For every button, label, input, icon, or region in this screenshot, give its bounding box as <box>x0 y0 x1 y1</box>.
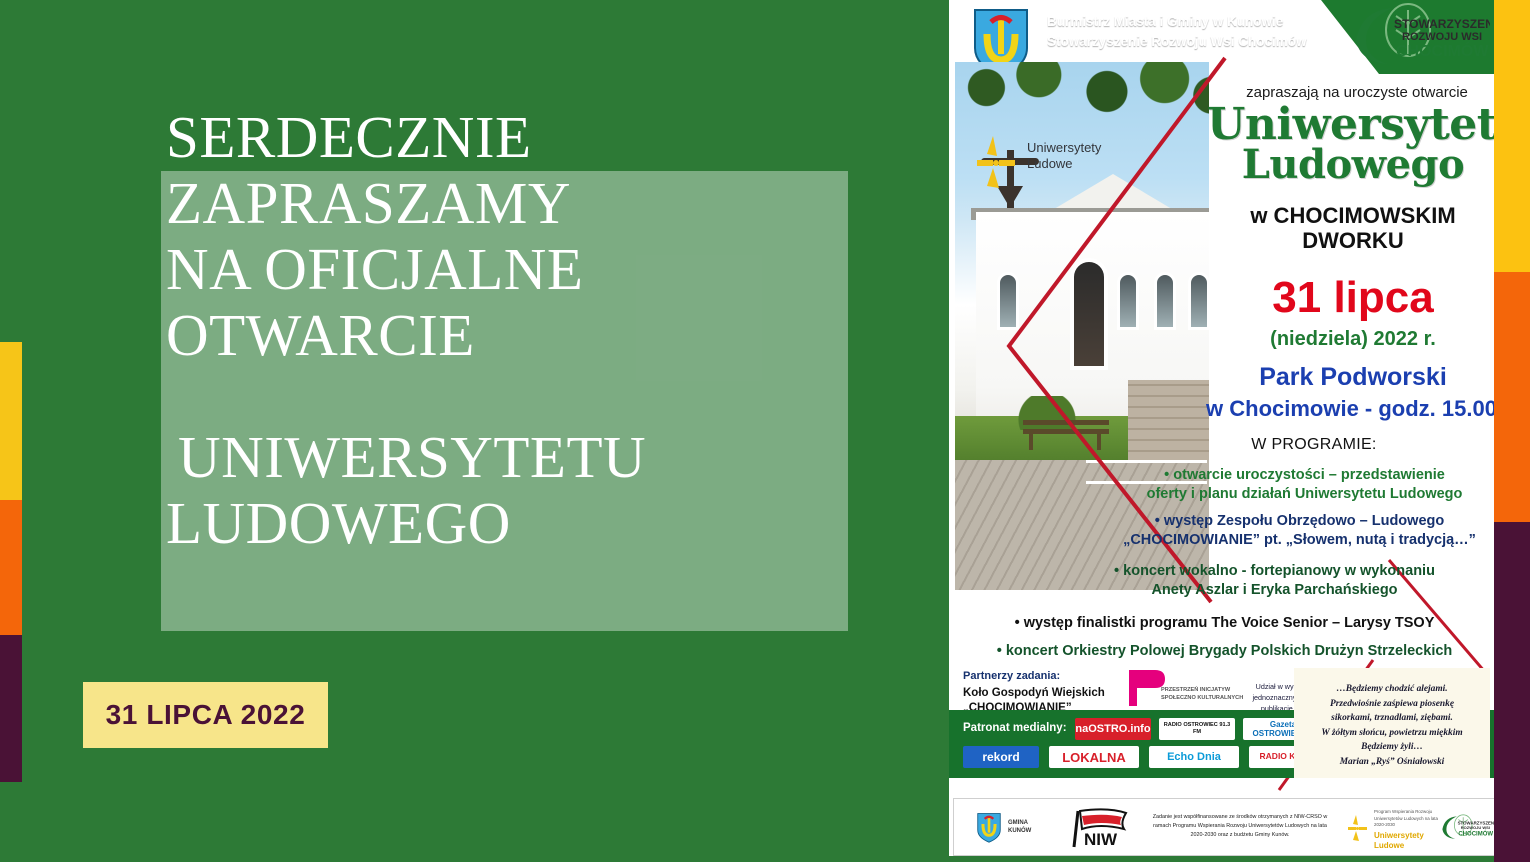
programme-item: • występ finalistki programu The Voice S… <box>949 614 1494 633</box>
poster-place-line-1: Park Podworski <box>1207 363 1494 392</box>
ul-logo-line-2: Ludowe <box>1027 156 1101 172</box>
gmina-line-2: KUNÓW <box>1008 827 1031 835</box>
poem-author: Marian „Ryś” Ośniałowski <box>1294 755 1490 770</box>
headline-line-2: ZAPRASZAMY <box>166 170 926 236</box>
photo-stone-wall <box>1128 380 1217 472</box>
poem-quote: …Będziemy chodzić alejami. Przedwiośnie … <box>1294 668 1490 778</box>
left-accent-bars <box>0 342 22 782</box>
niw-label: NIW <box>1084 830 1118 849</box>
headline-line-5: UNIWERSYTETU <box>166 424 926 490</box>
headline-text: SERDECZNIE ZAPRASZAMY NA OFICJALNE OTWAR… <box>166 104 926 556</box>
svg-text:STOWARZYSZENIE: STOWARZYSZENIE <box>1458 820 1494 825</box>
gmina-line-1: GMINA <box>1008 819 1031 827</box>
stowarzyszenie-chocimow-logo-icon: STOWARZYSZENIE ROZWOJU WSI CHOCIMÓW <box>1350 2 1490 72</box>
poster-title-line-2: Ludowego <box>1207 146 1494 184</box>
partners-label: Partnerzy zadania: <box>963 670 1060 682</box>
uniwersytety-ludowe-logo: Uniwersytety Ludowe <box>969 130 1134 194</box>
poem-line-1: …Będziemy chodzić alejami. <box>1294 682 1490 697</box>
poster-subtitle: w CHOCIMOWSKIM DWORKU <box>1207 204 1494 253</box>
accent-bar-orange <box>0 500 22 635</box>
niw-logo-icon: NIW <box>1066 807 1140 849</box>
media-logo-echo-dnia: Echo Dnia <box>1149 746 1239 768</box>
accent-bar-yellow <box>0 342 22 500</box>
photo-window <box>997 272 1019 330</box>
media-logo-radio-ostrowiec: RADIO OSTROWIEC 91.3 FM <box>1159 718 1235 740</box>
funding-strip: GMINA KUNÓW NIW Zadanie jest współfinans… <box>953 798 1494 856</box>
poster-title: Uniwersytetu Ludowego <box>1207 104 1494 185</box>
photo-park-bench <box>1023 420 1109 450</box>
svg-text:ROZWOJU WSI: ROZWOJU WSI <box>1461 825 1490 830</box>
svg-text:ROZWOJU WSI: ROZWOJU WSI <box>1402 31 1482 43</box>
ul-logo-line-1: Uniwersytety <box>1027 140 1101 156</box>
headline-line-3: NA OFICJALNE <box>166 236 926 302</box>
accent-strip-orange <box>1494 272 1530 522</box>
poem-line-5: Będziemy żyli… <box>1294 740 1490 755</box>
svg-text:CHOCIMÓW: CHOCIMÓW <box>1396 41 1489 60</box>
accent-strip-purple <box>1494 522 1530 862</box>
ul-starburst-icon <box>973 134 1021 190</box>
headline-line-4: OTWARCIE <box>166 302 926 368</box>
media-logo-naostro: naOSTRO.info <box>1075 718 1151 740</box>
header-line-1: Burmistrz Miasta i Gminy w Kunowie <box>1047 12 1307 32</box>
funding-ul-starburst-icon <box>1346 809 1370 847</box>
headline-spacer <box>166 368 926 424</box>
svg-text:STOWARZYSZENIE: STOWARZYSZENIE <box>1394 17 1490 31</box>
slide-canvas: SERDECZNIE ZAPRASZAMY NA OFICJALNE OTWAR… <box>0 0 1530 862</box>
photo-window <box>1154 272 1176 330</box>
partners-org-line-1: Koło Gospodyń Wiejskich <box>963 686 1105 701</box>
programme-item: • koncert Orkiestry Polowej Brygady Pols… <box>949 642 1494 661</box>
programme-item: • występ Zespołu Obrzędowo – Ludowego„CH… <box>949 512 1494 550</box>
poster-subtitle-line-1: w CHOCIMOWSKIM <box>1207 204 1494 229</box>
funding-ul-label: Uniwersytety Ludowe <box>1374 831 1424 850</box>
poster-subtitle-line-2: DWORKU <box>1207 229 1494 254</box>
date-badge-label: 31 LIPCA 2022 <box>106 699 306 731</box>
accent-bar-purple <box>0 635 22 782</box>
ul-logo-text: Uniwersytety Ludowe <box>1027 140 1101 173</box>
headline-line-6: LUDOWEGO <box>166 490 926 556</box>
poem-line-3: sikorkami, trznadlami, ziębami. <box>1294 711 1490 726</box>
svg-text:CHOCIMÓW: CHOCIMÓW <box>1458 830 1493 838</box>
media-patronage-label: Patronat medialny: <box>963 722 1067 734</box>
headline-line-1: SERDECZNIE <box>166 104 926 170</box>
media-logo-lokalna: LOKALNA <box>1049 746 1139 768</box>
programme-item: • otwarcie uroczystości – przedstawienie… <box>949 466 1494 504</box>
accent-strip-yellow <box>1494 0 1530 272</box>
funding-stowarzyszenie-logo-icon: STOWARZYSZENIE ROZWOJU WSI CHOCIMÓW <box>1440 809 1494 847</box>
poster-place-line-2: w Chocimowie - godz. 15.00 <box>1199 396 1494 422</box>
programme-header: W PROGRAMIE: <box>1164 436 1464 454</box>
funding-ul-programme: Program Wspierania Rozwoju Uniwersytetów… <box>1374 809 1444 829</box>
poster-panel: Burmistrz Miasta i Gminy w Kunowie Stowa… <box>943 0 1530 862</box>
gmina-kunow-crest-icon <box>976 807 1002 847</box>
event-poster: Burmistrz Miasta i Gminy w Kunowie Stowa… <box>943 0 1494 862</box>
poster-header-text: Burmistrz Miasta i Gminy w Kunowie Stowa… <box>1047 12 1307 51</box>
media-logo-rekord: rekord <box>963 746 1039 768</box>
photo-treeline <box>955 62 1217 126</box>
poem-line-2: Przedwiośnie zaśpiewa piosenkę <box>1294 697 1490 712</box>
gmina-kunow-label: GMINA KUNÓW <box>1008 819 1031 836</box>
poem-line-4: W żółtym słońcu, powietrzu miękkim <box>1294 726 1490 741</box>
header-line-2: Stowarzyszenie Rozwoju Wsi Chocimów <box>1047 32 1307 52</box>
right-accent-strip <box>1494 0 1530 862</box>
date-badge: 31 LIPCA 2022 <box>83 682 328 748</box>
photo-window <box>1117 272 1139 330</box>
poster-bottom-rule <box>949 856 1494 862</box>
photo-entrance-door <box>1070 258 1108 370</box>
funding-ul-line-1: Uniwersytety <box>1374 831 1424 841</box>
left-panel: SERDECZNIE ZAPRASZAMY NA OFICJALNE OTWAR… <box>0 0 943 862</box>
programme-item: • koncert wokalno - fortepianowy w wykon… <box>949 562 1494 600</box>
funding-ul-line-2: Ludowe <box>1374 841 1424 851</box>
poster-big-date: 31 lipca <box>1207 276 1494 320</box>
poster-date-subtitle: (niedziela) 2022 r. <box>1207 328 1494 351</box>
funding-text: Zadanie jest współfinansowane ze środków… <box>1150 813 1330 840</box>
